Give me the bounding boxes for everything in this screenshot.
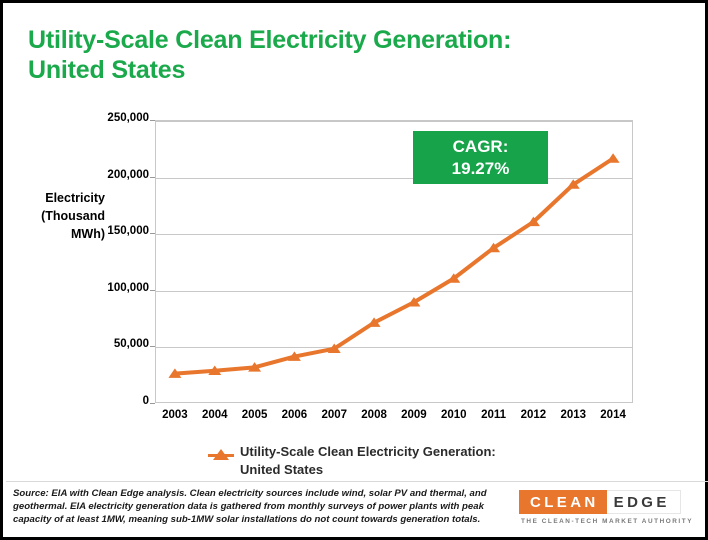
series-line xyxy=(175,158,613,373)
source-note: Source: EIA with Clean Edge analysis. Cl… xyxy=(13,487,493,526)
y-axis-tick-label: 0 xyxy=(61,395,149,407)
y-axis-tick-label: 150,000 xyxy=(61,225,149,237)
logo-wordmark: CLEAN EDGE xyxy=(519,490,695,514)
cagr-callout: CAGR: 19.27% xyxy=(413,131,548,184)
y-axis-tick-label: 250,000 xyxy=(61,112,149,124)
y-axis-tick-label: 50,000 xyxy=(61,338,149,350)
data-point-marker xyxy=(607,153,620,163)
logo-edge-text: EDGE xyxy=(607,490,681,514)
y-axis-tick-mark xyxy=(150,403,155,404)
footer-divider xyxy=(6,481,708,482)
y-axis-tick-mark xyxy=(150,233,155,234)
cagr-label: CAGR: xyxy=(453,136,509,158)
y-axis-tick-mark xyxy=(150,290,155,291)
y-axis-tick-mark xyxy=(150,177,155,178)
series-utility-scale-clean-electricity xyxy=(168,153,619,378)
chart-legend: Utility-Scale Clean Electricity Generati… xyxy=(208,443,628,479)
triangle-marker-icon xyxy=(208,448,234,466)
y-axis-tick-label: 200,000 xyxy=(61,169,149,181)
y-axis-tick-label: 100,000 xyxy=(61,282,149,294)
chart-series-layer xyxy=(155,120,633,403)
cagr-value: 19.27% xyxy=(452,158,510,180)
y-axis-tick-mark xyxy=(150,120,155,121)
legend-label: Utility-Scale Clean Electricity Generati… xyxy=(240,443,496,479)
slide-canvas: Utility-Scale Clean Electricity Generati… xyxy=(0,0,708,540)
x-axis-tick-label: 2014 xyxy=(589,409,637,421)
clean-edge-logo: CLEAN EDGE THE CLEAN-TECH MARKET AUTHORI… xyxy=(519,490,695,525)
logo-tagline: THE CLEAN-TECH MARKET AUTHORITY xyxy=(519,518,695,525)
page-title: Utility-Scale Clean Electricity Generati… xyxy=(28,25,668,85)
logo-clean-text: CLEAN xyxy=(519,490,607,514)
y-axis-tick-mark xyxy=(150,346,155,347)
